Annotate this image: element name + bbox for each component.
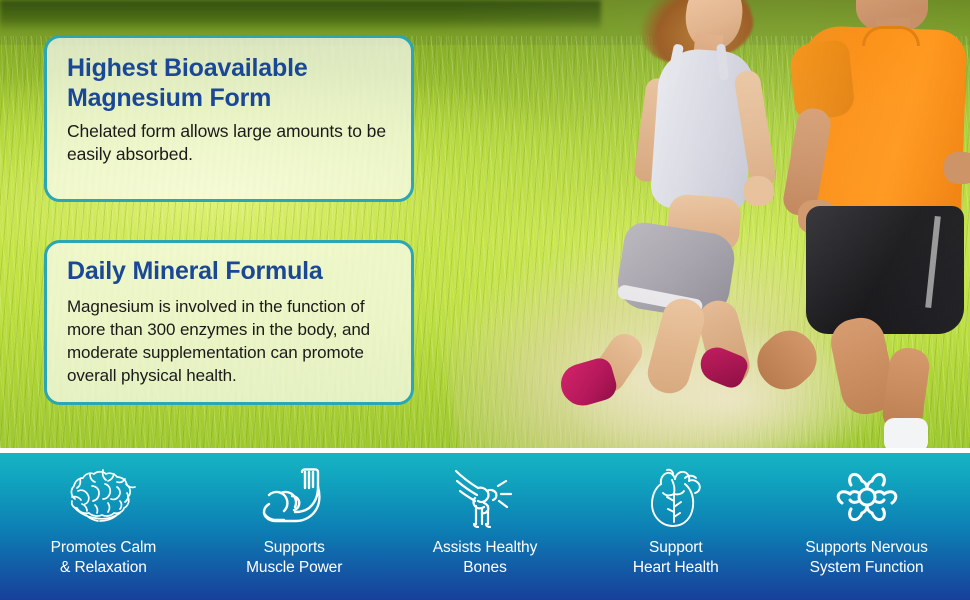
- benefit-label-2: Assists Healthy Bones: [433, 538, 537, 578]
- man-fist-back: [944, 152, 970, 184]
- benefit-label-4: Supports Nervous System Function: [805, 538, 927, 578]
- promotional-banner: Highest BioavailableMagnesium Form Chela…: [0, 0, 970, 600]
- info-card-bioavailable: Highest BioavailableMagnesium Form Chela…: [44, 35, 414, 202]
- man-collar: [862, 26, 920, 46]
- man-sock: [884, 418, 928, 448]
- woman-hand: [744, 176, 774, 206]
- heart-icon: [648, 465, 704, 529]
- card-1-title-line-2: Magnesium Form: [67, 84, 271, 112]
- info-card-daily-formula: Daily Mineral Formula Magnesium is invol…: [44, 240, 414, 405]
- benefit-muscle-power: Supports Muscle Power: [199, 453, 390, 578]
- bicep-icon: [261, 465, 327, 529]
- brain-icon: [66, 465, 140, 529]
- card-2-title: Daily Mineral Formula: [67, 257, 391, 287]
- benefit-label-0: Promotes Calm & Relaxation: [51, 538, 157, 578]
- card-1-body: Chelated form allows large amounts to be…: [67, 120, 391, 167]
- card-1-title-line-1: Highest Bioavailable: [67, 54, 308, 82]
- man-shorts: [806, 206, 964, 334]
- benefit-promotes-calm: Promotes Calm & Relaxation: [8, 453, 199, 578]
- man-sleeve: [788, 39, 856, 121]
- benefit-label-1: Supports Muscle Power: [246, 538, 342, 578]
- card-2-body: Magnesium is involved in the function of…: [67, 295, 391, 387]
- benefit-label-3: Support Heart Health: [633, 538, 719, 578]
- knee-joint-icon: [454, 465, 516, 529]
- benefits-banner: Promotes Calm & Relaxation Supports Musc…: [0, 453, 970, 600]
- benefit-nervous-system: Supports Nervous System Function: [771, 453, 962, 578]
- benefit-healthy-bones: Assists Healthy Bones: [390, 453, 581, 578]
- neuron-icon: [834, 465, 900, 529]
- benefit-heart-health: Support Heart Health: [580, 453, 771, 578]
- treeline-layer: [0, 0, 601, 31]
- card-1-title: Highest BioavailableMagnesium Form: [67, 54, 391, 113]
